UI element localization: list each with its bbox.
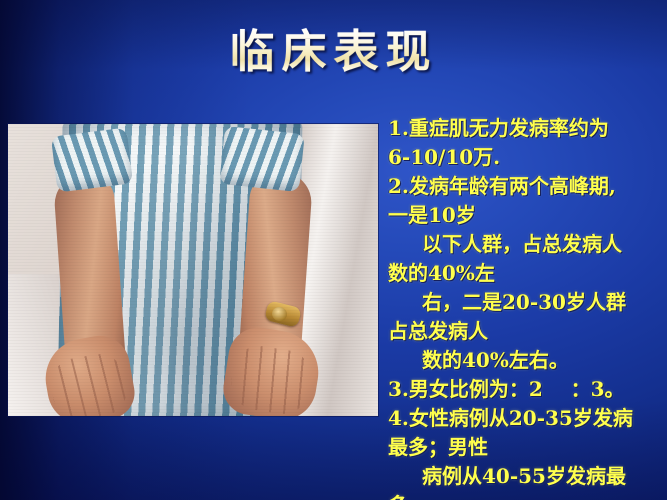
photo-grain-overlay: [8, 124, 378, 416]
body-line: 2.发病年龄有两个高峰期,: [388, 172, 666, 201]
body-line: 1.重症肌无力发病率约为: [388, 114, 666, 143]
body-line: 数的40%左右。: [388, 346, 666, 375]
body-line: 6-10/10万.: [388, 143, 666, 172]
body-line: 病例从40-55岁发病最: [388, 462, 666, 491]
body-line: 最多；男性: [388, 433, 666, 462]
slide-title: 临床表现: [0, 28, 667, 75]
body-line: 占总发病人: [388, 317, 666, 346]
body-line: 以下人群，占总发病人: [388, 230, 666, 259]
body-line: 4.女性病例从20-35岁发病: [388, 404, 666, 433]
body-line: 数的40%左: [388, 259, 666, 288]
body-line: 多。: [388, 491, 666, 500]
body-line: 右，二是20-30岁人群: [388, 288, 666, 317]
body-line: 一是10岁: [388, 201, 666, 230]
slide-body-text: 1.重症肌无力发病率约为6-10/10万.2.发病年龄有两个高峰期,一是10岁以…: [388, 114, 666, 500]
presentation-slide: 临床表现 1.重症肌无力发病率约为6-10/10万.2.发病年龄有两个高峰期,一…: [0, 0, 667, 500]
body-line: 3.男女比例为：2 ：3。: [388, 375, 666, 404]
clinical-photo: [8, 124, 378, 416]
